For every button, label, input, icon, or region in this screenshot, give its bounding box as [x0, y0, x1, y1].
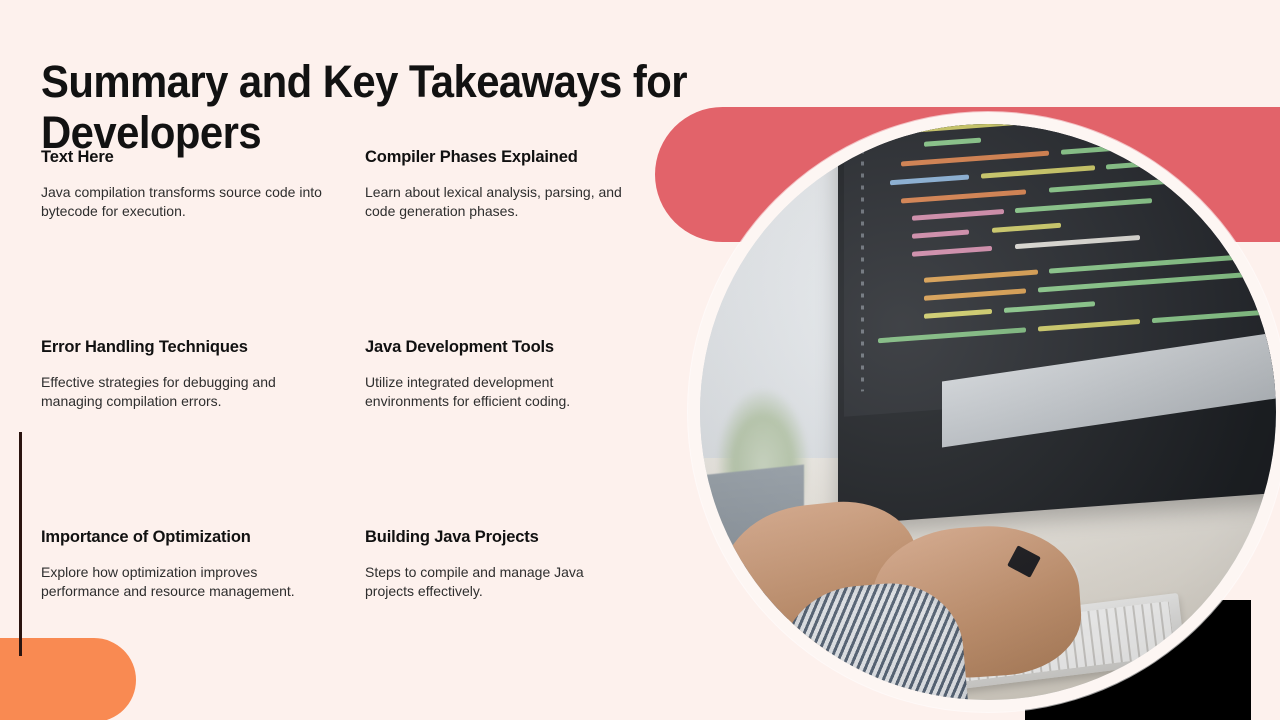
photo-code-gutter	[861, 126, 864, 392]
block-body: Java compilation transforms source code …	[41, 183, 331, 222]
page-title: Summary and Key Takeaways for Developers	[41, 57, 878, 158]
block-heading: Java Development Tools	[365, 338, 661, 357]
block-body: Explore how optimization improves perfor…	[41, 563, 331, 602]
photo-illustration	[700, 124, 1276, 700]
content-block-importance-of-optimization: Importance of Optimization Explore how o…	[41, 528, 365, 602]
block-body: Learn about lexical analysis, parsing, a…	[365, 183, 627, 222]
content-block-java-development-tools: Java Development Tools Utilize integrate…	[365, 338, 661, 528]
circular-photo	[700, 124, 1276, 700]
block-body: Steps to compile and manage Java project…	[365, 563, 627, 602]
photo-monitor	[838, 124, 1276, 525]
content-block-building-java-projects: Building Java Projects Steps to compile …	[365, 528, 661, 602]
content-row-3: Importance of Optimization Explore how o…	[41, 528, 661, 602]
block-heading: Compiler Phases Explained	[365, 148, 661, 167]
vertical-accent-line	[19, 432, 22, 656]
block-heading: Building Java Projects	[365, 528, 661, 547]
block-heading: Text Here	[41, 148, 365, 167]
content-block-text-here: Text Here Java compilation transforms so…	[41, 148, 365, 338]
content-block-compiler-phases-explained: Compiler Phases Explained Learn about le…	[365, 148, 661, 338]
slide-canvas: Summary and Key Takeaways for Developers…	[0, 0, 1280, 720]
content-row-2: Error Handling Techniques Effective stra…	[41, 338, 661, 528]
block-heading: Importance of Optimization	[41, 528, 365, 547]
content-row-1: Text Here Java compilation transforms so…	[41, 148, 661, 338]
content-block-error-handling-techniques: Error Handling Techniques Effective stra…	[41, 338, 365, 528]
block-body: Effective strategies for debugging and m…	[41, 373, 331, 412]
block-body: Utilize integrated development environme…	[365, 373, 627, 412]
content-grid: Text Here Java compilation transforms so…	[41, 148, 661, 602]
circular-photo-frame	[688, 112, 1280, 712]
block-heading: Error Handling Techniques	[41, 338, 365, 357]
